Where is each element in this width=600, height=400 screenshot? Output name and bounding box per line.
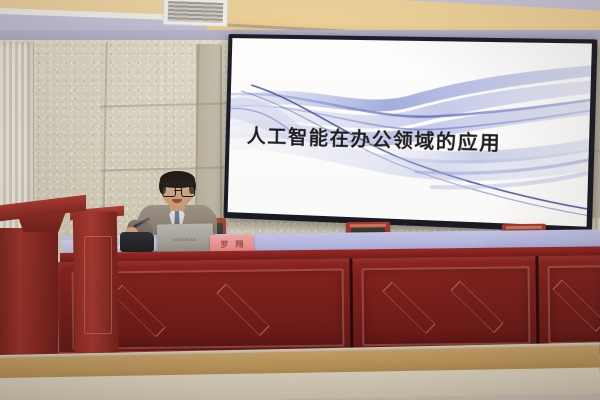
diamond-motif: [382, 282, 435, 334]
diamond-motif: [113, 285, 166, 337]
wall-seam: [220, 46, 222, 226]
panel-divider: [535, 256, 539, 354]
lens-right: [181, 186, 195, 197]
diamond-motif: [450, 281, 503, 333]
side-desk-panel: [84, 236, 112, 334]
diamond-motif: [552, 280, 600, 332]
eyeglasses-icon: [162, 186, 193, 195]
lectern-body: [0, 228, 58, 360]
lens-left: [162, 186, 176, 197]
chair-highlight: [349, 224, 386, 227]
laptop[interactable]: NOTEBOOK: [157, 224, 213, 253]
placard-char-2: 翔: [235, 239, 243, 250]
panel-divider: [349, 258, 353, 356]
placard-char-1: 罗: [220, 239, 228, 250]
carved-panel: [547, 265, 600, 344]
screen-surface: 人工智能在办公领域的应用: [228, 38, 592, 227]
glasses-bridge: [174, 190, 181, 191]
laptop-brand-mark: NOTEBOOK: [173, 238, 197, 242]
black-bag[interactable]: [120, 232, 154, 252]
air-vent-icon: [163, 0, 229, 27]
diamond-motif: [217, 284, 270, 336]
carved-panel: [362, 266, 531, 346]
vent-louvers: [168, 1, 224, 23]
led-screen[interactable]: 人工智能在办公领域的应用: [223, 34, 597, 233]
conference-room-photo: 人工智能在办公领域的应用: [0, 0, 600, 400]
chair-highlight: [505, 226, 542, 229]
